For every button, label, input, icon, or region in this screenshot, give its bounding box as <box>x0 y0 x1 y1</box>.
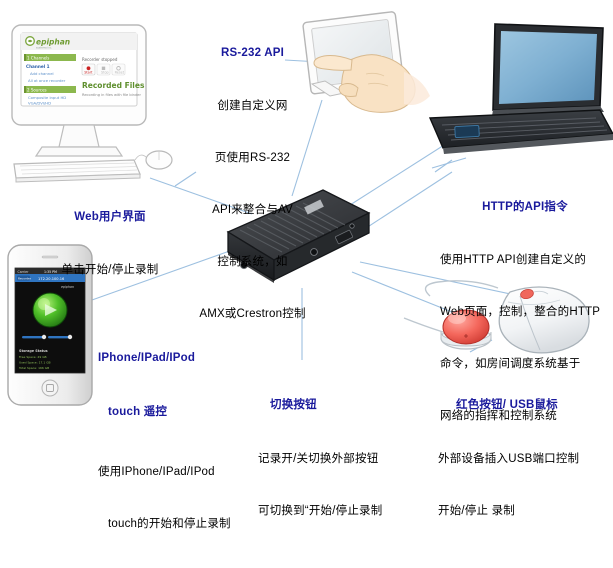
label-rs232-heading: RS-232 API <box>190 47 315 59</box>
label-red-button: 红色按钮/ USB鼠标 外部设备插入USB端口控制 开始/停止 录制 <box>438 360 613 555</box>
label-toggle-button-line-1: 记录开/关切换外部按钮 <box>258 451 428 467</box>
label-rs232-line-1: 创建自定义网 <box>190 98 315 114</box>
label-iphone-line-2: touch的开始和停止录制 <box>98 516 263 532</box>
label-http-api-heading: HTTP的API指令 <box>440 198 610 214</box>
label-rs232-line-2: 页使用RS-232 <box>190 150 315 166</box>
label-web-ui: Web用户界面 单击开始/停止录制 <box>30 172 190 314</box>
label-iphone-heading-line-2: touch 遥控 <box>98 403 263 419</box>
label-toggle-button-line-2: 可切换到“开始/停止录制 <box>258 503 428 519</box>
label-iphone: IPhone/IPad/IPod touch 遥控 使用IPhone/IPad/… <box>98 316 263 568</box>
label-web-ui-heading: Web用户界面 <box>30 208 190 224</box>
label-rs232-line-3: API来整合与AV <box>190 202 315 218</box>
label-iphone-line-1: 使用IPhone/IPad/IPod <box>98 464 263 480</box>
label-toggle-button: 切换按钮 记录开/关切换外部按钮 可切换到“开始/停止录制 <box>258 360 428 555</box>
label-rs232: RS-232 API 创建自定义网 页使用RS-232 API来整合与AV 控制… <box>190 11 315 358</box>
label-toggle-button-heading: 切换按钮 <box>258 396 428 412</box>
label-red-button-line-1: 外部设备插入USB端口控制 <box>438 451 613 467</box>
label-http-api-line-1: 使用HTTP API创建自定义的 <box>440 252 610 268</box>
label-red-button-line-2: 开始/停止 录制 <box>438 503 613 519</box>
label-http-api-line-2: Web页面，控制，整合的HTTP <box>440 304 610 320</box>
diagram-canvas: epiphan systems inc. 1 Channels Channel … <box>0 0 613 446</box>
label-iphone-heading-line-1: IPhone/IPad/IPod <box>98 352 263 364</box>
label-web-ui-line-1: 单击开始/停止录制 <box>30 262 190 278</box>
label-rs232-line-4: 控制系统，如 <box>190 254 315 270</box>
label-red-button-heading: 红色按钮/ USB鼠标 <box>438 396 613 412</box>
